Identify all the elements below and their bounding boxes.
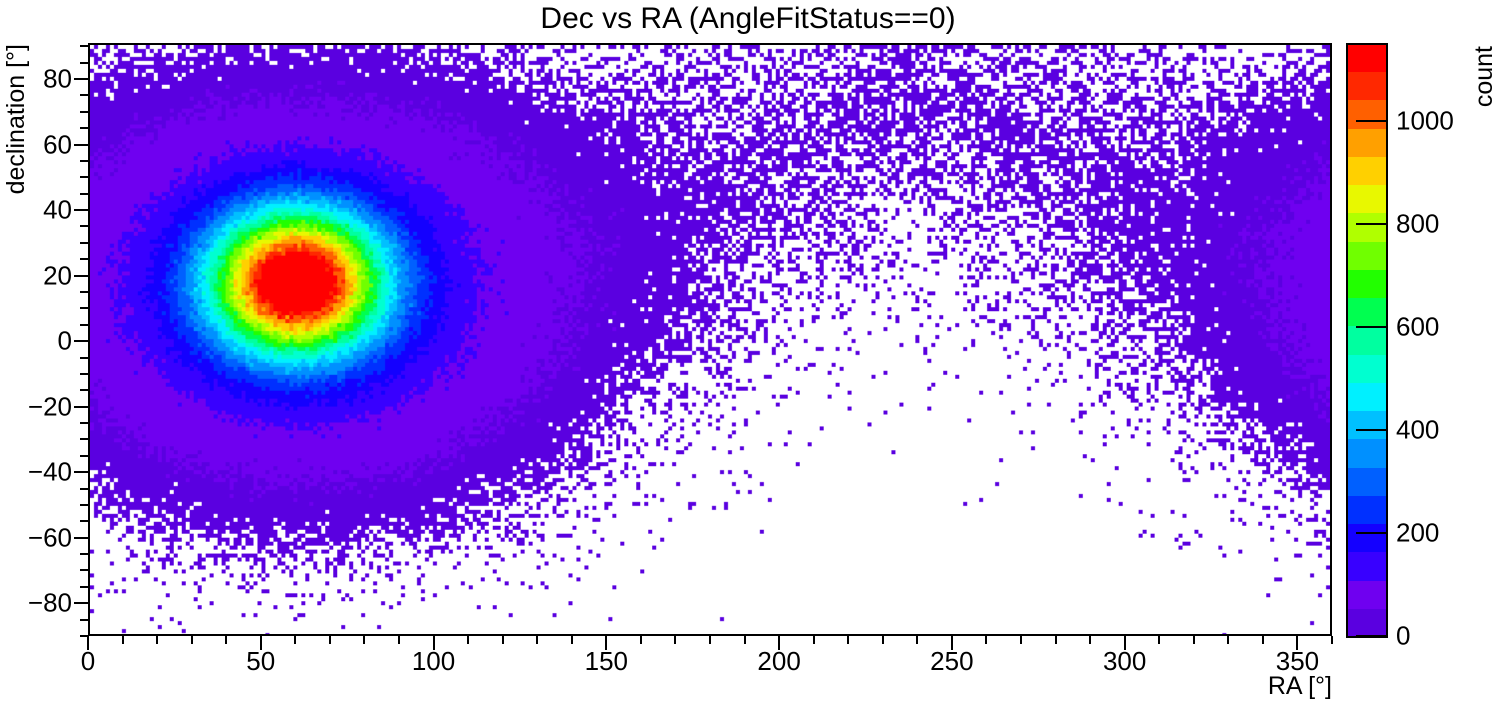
x-tick-minor [156,636,158,644]
y-tick-label: −80 [28,588,72,619]
x-tick-minor [398,636,400,644]
colorbar-band [1347,411,1387,439]
colorbar-tick-label: 400 [1396,415,1439,446]
x-tick-minor [847,636,849,644]
x-tick-minor [1193,636,1195,644]
x-tick-minor [225,636,227,644]
colorbar-label: count [1470,46,1496,107]
x-tick-minor [1055,636,1057,644]
plot-canvas: Dec vs RA (AngleFitStatus==0) −80−60−40−… [0,0,1496,722]
y-tick-minor [80,357,88,359]
plot-frame[interactable] [88,43,1332,636]
y-tick-minor [80,242,88,244]
y-tick-minor [80,504,88,506]
x-tick-minor [709,636,711,644]
colorbar-band [1347,298,1387,326]
x-tick-minor [1331,636,1333,644]
x-tick-minor [1020,636,1022,644]
x-tick-minor [467,636,469,644]
x-tick-label: 250 [930,646,973,677]
colorbar-tick [1356,326,1388,328]
y-tick-major [74,144,88,146]
colorbar-band [1347,355,1387,383]
colorbar-tick-label: 600 [1396,312,1439,343]
colorbar[interactable] [1346,43,1388,638]
colorbar-tick [1356,635,1388,637]
colorbar-band [1347,496,1387,524]
y-tick-minor [80,258,88,260]
y-tick-minor [80,307,88,309]
x-tick-minor [536,636,538,644]
x-tick-minor [1089,636,1091,644]
x-tick-minor [294,636,296,644]
colorbar-tick [1356,223,1388,225]
x-tick-minor [744,636,746,644]
colorbar-tick [1356,429,1388,431]
y-tick-label: 0 [58,326,72,357]
y-tick-minor [80,62,88,64]
colorbar-band [1347,524,1387,552]
y-axis-label: declination [°] [2,44,31,194]
y-tick-major [74,78,88,80]
colorbar-band [1347,185,1387,213]
colorbar-tick-label: 1000 [1396,106,1454,137]
y-tick-label: −40 [28,457,72,488]
x-axis-label: RA [°] [1268,672,1332,701]
x-tick-minor [882,636,884,644]
colorbar-band [1347,44,1387,72]
y-tick-minor [80,193,88,195]
y-tick-label: −20 [28,391,72,422]
y-tick-minor [80,569,88,571]
y-tick-major [74,537,88,539]
y-tick-minor [80,291,88,293]
y-tick-minor [80,45,88,47]
y-tick-minor [80,94,88,96]
x-tick-label: 150 [585,646,628,677]
y-tick-minor [80,586,88,588]
y-tick-minor [80,455,88,457]
colorbar-tick [1356,532,1388,534]
page-title: Dec vs RA (AngleFitStatus==0) [0,2,1496,36]
colorbar-band [1347,72,1387,100]
y-tick-label: 40 [43,195,72,226]
y-tick-minor [80,488,88,490]
y-tick-minor [80,553,88,555]
colorbar-band [1347,439,1387,468]
x-tick-minor [363,636,365,644]
y-tick-minor [80,373,88,375]
x-tick-minor [1262,636,1264,644]
colorbar-band [1347,242,1387,270]
colorbar-tick-label: 0 [1396,621,1410,652]
y-tick-minor [80,520,88,522]
colorbar-band [1347,213,1387,242]
y-tick-minor [80,127,88,129]
colorbar-band [1347,609,1387,637]
colorbar-band [1347,581,1387,609]
y-tick-label: 80 [43,64,72,95]
colorbar-band [1347,157,1387,185]
x-tick-minor [502,636,504,644]
y-tick-major [74,471,88,473]
x-tick-label: 0 [81,646,95,677]
x-tick-label: 100 [412,646,455,677]
x-tick-label: 50 [246,646,275,677]
colorbar-band [1347,552,1387,581]
y-tick-major [74,602,88,604]
y-tick-major [74,209,88,211]
y-tick-minor [80,324,88,326]
y-tick-minor [80,422,88,424]
x-tick-minor [985,636,987,644]
colorbar-band [1347,383,1387,411]
x-tick-minor [916,636,918,644]
x-tick-minor [191,636,193,644]
colorbar-band [1347,100,1387,129]
x-tick-minor [813,636,815,644]
x-tick-minor [571,636,573,644]
colorbar-tick-label: 800 [1396,209,1439,240]
colorbar-band [1347,270,1387,298]
y-tick-minor [80,160,88,162]
heatmap-canvas[interactable] [90,45,1330,634]
y-tick-minor [80,389,88,391]
x-tick-label: 200 [757,646,800,677]
y-tick-minor [80,176,88,178]
y-tick-label: −60 [28,522,72,553]
y-tick-minor [80,225,88,227]
x-tick-minor [122,636,124,644]
x-tick-minor [1158,636,1160,644]
x-tick-minor [674,636,676,644]
y-tick-minor [80,619,88,621]
x-tick-minor [329,636,331,644]
x-tick-label: 300 [1103,646,1146,677]
y-tick-minor [80,438,88,440]
y-tick-major [74,275,88,277]
y-tick-minor [80,111,88,113]
colorbar-band [1347,326,1387,355]
colorbar-tick-label: 200 [1396,518,1439,549]
colorbar-tick [1356,120,1388,122]
x-tick-minor [1227,636,1229,644]
y-tick-major [74,340,88,342]
colorbar-band [1347,468,1387,496]
y-tick-label: 20 [43,260,72,291]
colorbar-band [1347,129,1387,157]
y-tick-major [74,406,88,408]
y-tick-label: 60 [43,129,72,160]
x-tick-minor [640,636,642,644]
